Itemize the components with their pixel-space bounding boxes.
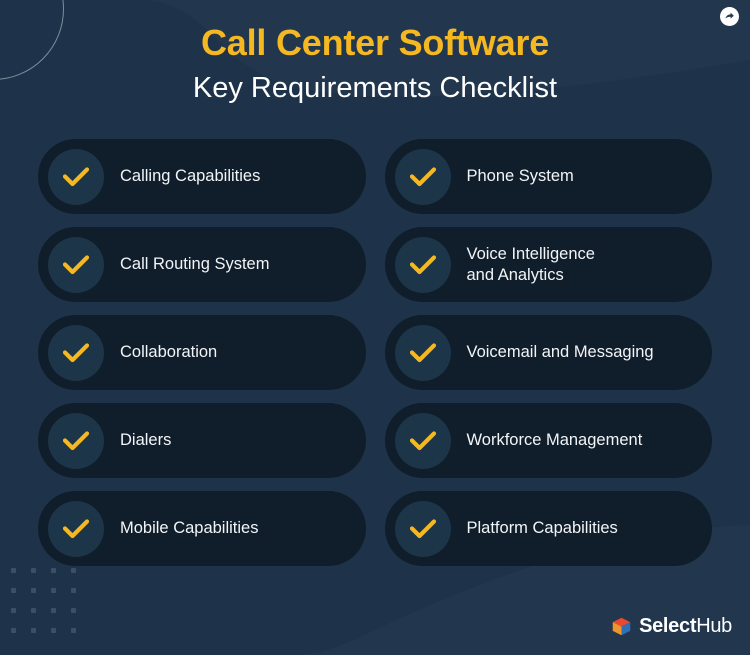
check-badge <box>395 501 451 557</box>
selecthub-cube-icon <box>611 616 632 637</box>
requirements-checklist: Calling Capabilities Phone System Call R… <box>38 139 712 566</box>
check-badge <box>48 149 104 205</box>
check-badge <box>395 237 451 293</box>
selecthub-logo[interactable]: SelectHub <box>611 615 732 638</box>
check-badge <box>48 325 104 381</box>
checklist-item-label: Platform Capabilities <box>467 518 618 539</box>
checkmark-icon <box>63 519 89 539</box>
checkmark-icon <box>410 431 436 451</box>
page-title: Call Center Software <box>0 20 750 65</box>
logo-name-bold: Select <box>639 615 696 637</box>
checklist-item-label: Call Routing System <box>120 254 269 275</box>
checkmark-icon <box>63 343 89 363</box>
logo-wordmark: SelectHub <box>639 615 732 638</box>
check-badge <box>395 413 451 469</box>
checkmark-icon <box>63 255 89 275</box>
checkmark-icon <box>63 167 89 187</box>
checklist-item[interactable]: Collaboration <box>38 315 366 390</box>
checkmark-icon <box>410 343 436 363</box>
share-arrow-icon <box>724 11 735 22</box>
checkmark-icon <box>410 167 436 187</box>
checklist-item[interactable]: Phone System <box>385 139 713 214</box>
checklist-item-label: Workforce Management <box>467 430 643 451</box>
check-badge <box>395 149 451 205</box>
checklist-item-label: Phone System <box>467 166 574 187</box>
dot-grid-decoration <box>11 568 76 633</box>
checklist-item[interactable]: Voicemail and Messaging <box>385 315 713 390</box>
check-badge <box>395 325 451 381</box>
checklist-item[interactable]: Call Routing System <box>38 227 366 302</box>
check-badge <box>48 237 104 293</box>
share-button[interactable] <box>720 7 739 26</box>
checklist-item-label: Mobile Capabilities <box>120 518 259 539</box>
logo-name-light: Hub <box>696 615 732 637</box>
checklist-item[interactable]: Dialers <box>38 403 366 478</box>
checklist-item[interactable]: Workforce Management <box>385 403 713 478</box>
check-badge <box>48 501 104 557</box>
check-badge <box>48 413 104 469</box>
checkmark-icon <box>410 519 436 539</box>
page-header: Call Center Software Key Requirements Ch… <box>0 0 750 108</box>
page-subtitle: Key Requirements Checklist <box>0 69 750 108</box>
checklist-item[interactable]: Mobile Capabilities <box>38 491 366 566</box>
checklist-item-label: Voice Intelligence and Analytics <box>467 244 595 286</box>
checklist-item[interactable]: Platform Capabilities <box>385 491 713 566</box>
checkmark-icon <box>63 431 89 451</box>
checklist-item-label: Collaboration <box>120 342 217 363</box>
checklist-item[interactable]: Voice Intelligence and Analytics <box>385 227 713 302</box>
checklist-item[interactable]: Calling Capabilities <box>38 139 366 214</box>
checkmark-icon <box>410 255 436 275</box>
checklist-item-label: Voicemail and Messaging <box>467 342 654 363</box>
checklist-item-label: Dialers <box>120 430 171 451</box>
checklist-item-label: Calling Capabilities <box>120 166 260 187</box>
